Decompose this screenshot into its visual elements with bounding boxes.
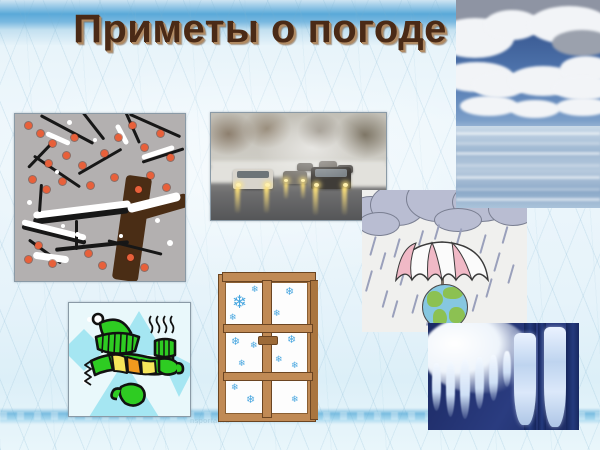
umbrella-over-globe-illustration: [362, 190, 527, 332]
rain-drop: [380, 252, 387, 270]
rowan-berry: [49, 260, 56, 267]
rain-drop: [382, 290, 389, 308]
snowflake: [27, 200, 32, 205]
rowan-berry: [157, 130, 164, 137]
rowan-berry: [43, 186, 50, 193]
rowan-berry: [25, 256, 32, 263]
frosted-window-illustration: ❄ ❄ ❄ ❄ ❄ ❄ ❄ ❄ ❄ ❄ ❄ ❄ ❄ ❄: [218, 272, 318, 422]
winter-hat-scarf-mittens-illustration: [68, 302, 191, 417]
rowan-berry: [35, 242, 42, 249]
globe-landmass: [443, 287, 463, 299]
icicle-large: [544, 327, 566, 427]
globe-landmass: [449, 307, 465, 323]
rowan-berry: [37, 130, 44, 137]
umbrella-canopy: [394, 240, 490, 282]
cloud-shape: [552, 76, 600, 100]
icicles-photo: [428, 323, 579, 430]
rowan-berry: [115, 134, 122, 141]
rain-drop: [507, 264, 514, 284]
rain-cloud: [362, 212, 400, 236]
snowflake: [119, 234, 123, 238]
rowan-berry: [63, 152, 70, 159]
snowflake: [101, 206, 105, 210]
cloud-shape: [460, 96, 518, 116]
sea-reflection: [456, 126, 600, 208]
rain-cloud: [434, 208, 482, 232]
snowflake: [55, 170, 59, 174]
rowan-berry: [135, 186, 142, 193]
rowan-berry: [141, 144, 148, 151]
rain-drop: [472, 294, 479, 312]
dark-gap: [566, 323, 579, 430]
rowan-berry: [99, 262, 106, 269]
rowan-berry: [29, 176, 36, 183]
tree-twig: [78, 148, 123, 176]
presentation-slide: Приметы о погоде: [0, 0, 600, 450]
rowan-berry: [59, 178, 66, 185]
rain-drop: [434, 224, 440, 240]
snow-haze: [211, 113, 386, 220]
rowan-berry: [49, 140, 56, 147]
rain-drop: [369, 236, 376, 256]
cars-on-snowy-road-photo: [210, 112, 387, 221]
rowan-berry: [167, 154, 174, 161]
rowan-berry: [163, 184, 170, 191]
window-pane: ❄: [268, 378, 308, 414]
snowflake: [155, 218, 160, 223]
cloud-shape: [552, 30, 600, 56]
rowan-berry: [45, 160, 52, 167]
globe-landmass: [427, 291, 443, 307]
snowy-rowan-tree-illustration: [14, 113, 186, 282]
rain-drop: [411, 294, 418, 314]
window-pane: ❄ ❄: [268, 282, 308, 326]
rowan-berry: [85, 250, 92, 257]
rowan-berry: [141, 264, 148, 271]
cloud-shape: [510, 100, 560, 118]
rowan-berry: [79, 162, 86, 169]
icicle: [432, 363, 441, 411]
page-title: Приметы о погоде: [60, 8, 460, 50]
icicle: [503, 351, 511, 387]
rowan-berry: [101, 150, 108, 157]
window-mullion-horizontal: [223, 324, 313, 333]
icicle: [446, 361, 455, 417]
icicle: [460, 359, 470, 419]
rowan-berry: [111, 174, 118, 181]
rowan-berry: [147, 172, 154, 179]
icicle: [489, 355, 498, 401]
rowan-berry: [25, 122, 32, 129]
rain-drop: [502, 226, 509, 244]
window-pane: ❄ ❄: [225, 378, 265, 414]
rain-drop: [392, 300, 399, 318]
rowan-berry: [129, 122, 136, 129]
snowflake: [75, 232, 80, 237]
snowflake: [167, 240, 173, 246]
rain-drop: [493, 252, 500, 272]
rowan-berry: [127, 254, 134, 261]
rain-drop: [365, 270, 373, 292]
cloud-shape: [556, 98, 600, 116]
snowflake: [93, 138, 97, 142]
window-mullion-horizontal: [223, 372, 313, 381]
window-pane: ❄ ❄ ❄: [225, 282, 265, 326]
icicle-large: [514, 333, 536, 425]
rowan-berry: [71, 134, 78, 141]
window-frame-side: [310, 280, 318, 420]
icicle: [475, 357, 484, 409]
rowan-berry: [87, 182, 94, 189]
window-handle[interactable]: [258, 336, 278, 345]
clouds-over-water-photo: [456, 0, 600, 208]
window-mullion-vertical: [262, 280, 272, 418]
snowflake: [61, 224, 65, 228]
snowflake: [67, 120, 72, 125]
